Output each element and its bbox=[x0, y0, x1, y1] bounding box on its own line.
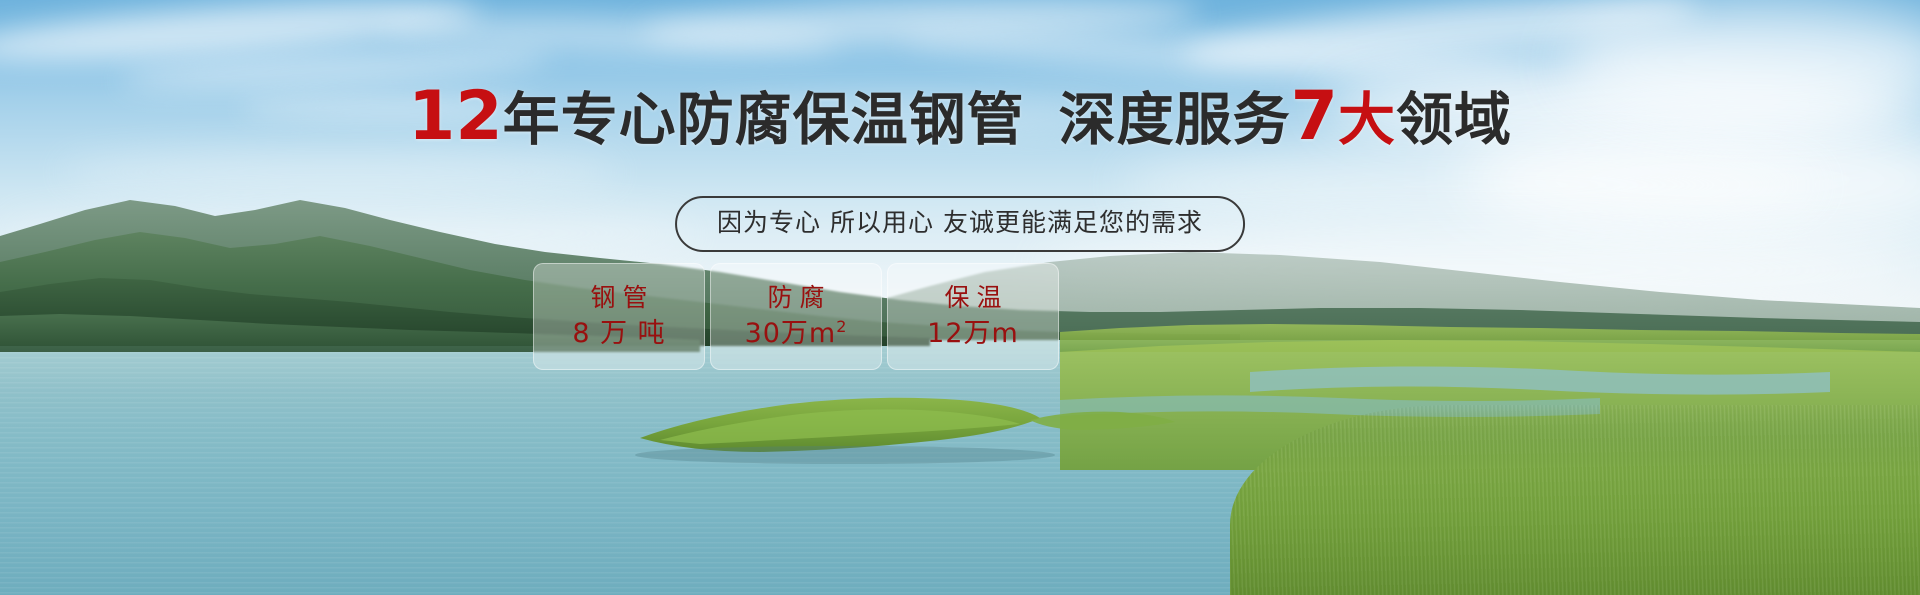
banner-headline: 12年专心防腐保温钢管深度服务7大领域 bbox=[0, 82, 1920, 155]
stat-card-value: 12万m bbox=[927, 315, 1019, 353]
stat-card-insulation: 保温 12万m bbox=[887, 263, 1059, 370]
stat-card-label: 钢管 bbox=[583, 281, 654, 315]
stat-card-group: 钢管 8 万 吨 防腐 30万m2 保温 12万m bbox=[533, 263, 1059, 370]
headline-phrase-3: 领域 bbox=[1396, 87, 1512, 153]
stat-card-value-text: 12万m bbox=[927, 318, 1019, 349]
stat-card-value-superscript: 2 bbox=[836, 317, 847, 336]
headline-years-unit: 年 bbox=[503, 87, 561, 153]
stat-card-steel-pipe: 钢管 8 万 吨 bbox=[533, 263, 705, 370]
headline-phrase-1: 专心防腐保温钢管 bbox=[561, 87, 1025, 153]
stat-card-anticorrosion: 防腐 30万m2 bbox=[710, 263, 882, 370]
headline-phrase-2: 深度服务 bbox=[1059, 87, 1291, 153]
stat-card-value: 30万m2 bbox=[745, 315, 848, 353]
stat-card-value: 8 万 吨 bbox=[572, 315, 665, 353]
banner-subtitle-pill: 因为专心 所以用心 友诚更能满足您的需求 bbox=[675, 196, 1245, 252]
headline-years-number: 12 bbox=[408, 77, 503, 156]
stat-card-label: 防腐 bbox=[760, 281, 831, 315]
hero-banner: 12年专心防腐保温钢管深度服务7大领域 因为专心 所以用心 友诚更能满足您的需求… bbox=[0, 0, 1920, 595]
stat-card-value-text: 8 万 吨 bbox=[572, 318, 665, 349]
banner-content: 12年专心防腐保温钢管深度服务7大领域 因为专心 所以用心 友诚更能满足您的需求… bbox=[0, 0, 1920, 595]
stat-card-label: 保温 bbox=[937, 281, 1008, 315]
headline-highlight-number: 7 bbox=[1291, 77, 1338, 156]
stat-card-value-text: 30万m bbox=[745, 318, 837, 349]
headline-highlight-unit: 大 bbox=[1338, 87, 1396, 153]
